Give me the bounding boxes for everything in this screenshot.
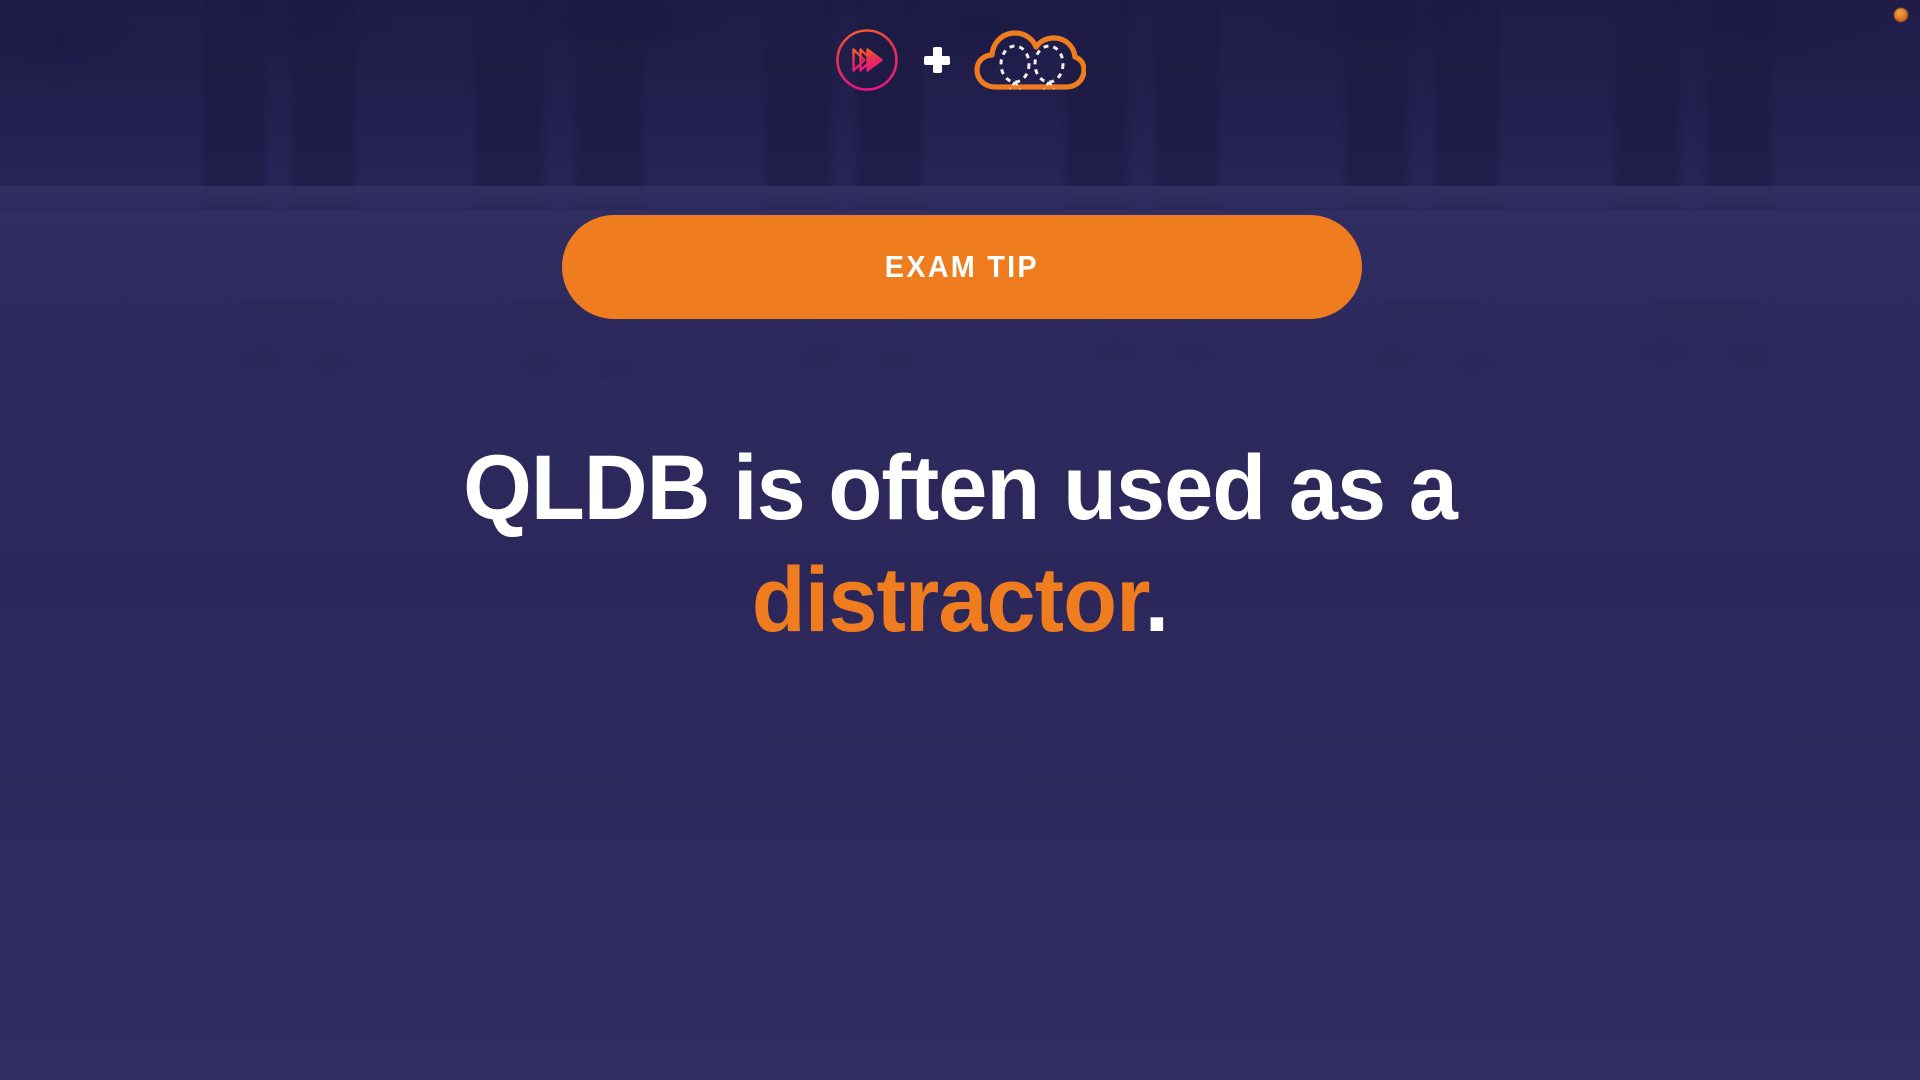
cloud-balloons-logo-icon[interactable] [974, 26, 1086, 94]
exam-tip-button-label: EXAM TIP [885, 249, 1039, 285]
headline-line-2: distractor. [38, 544, 1881, 656]
logo-lockup [0, 22, 1920, 98]
headline-line-1: QLDB is often used as a [38, 432, 1881, 544]
plus-icon [924, 47, 950, 73]
headline: QLDB is often used as a distractor. [0, 432, 1920, 656]
exam-tip-button[interactable]: EXAM TIP [562, 215, 1362, 319]
corner-light-dot [1894, 8, 1908, 22]
slide-stage: EXAM TIP QLDB is often used as a distrac… [0, 0, 1920, 1080]
headline-period: . [1145, 549, 1169, 651]
headline-accent-word: distractor [752, 549, 1145, 651]
play-circle-logo-icon[interactable] [834, 27, 900, 93]
